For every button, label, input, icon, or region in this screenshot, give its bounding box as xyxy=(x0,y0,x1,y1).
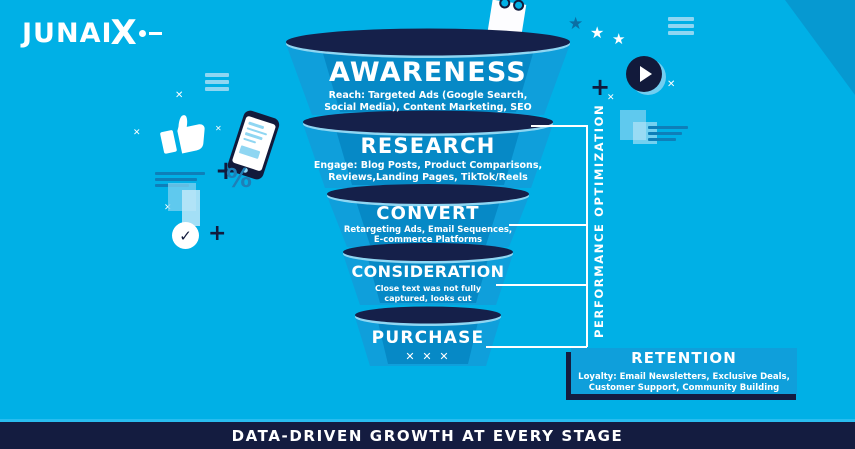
stage-consideration-sub: Close text was not fully captured, looks… xyxy=(343,284,513,304)
stage-purchase-marks: ✕ ✕ ✕ xyxy=(355,350,501,363)
stage-convert-sub: Retargeting Ads, Email Sequences, E-comm… xyxy=(327,225,529,246)
stage-purchase[interactable]: PURCHASE ✕ ✕ ✕ xyxy=(355,317,501,366)
stage-awareness[interactable]: AWARENESS Reach: Targeted Ads (Google Se… xyxy=(286,44,570,115)
bracket-tick-consideration xyxy=(496,284,587,286)
stage-purchase-label: PURCHASE xyxy=(355,328,501,348)
stage-convert[interactable]: CONVERT Retargeting Ads, Email Sequences… xyxy=(327,196,529,247)
stage-consideration[interactable]: CONSIDERATION Close text was not fully c… xyxy=(343,254,513,305)
infographic-canvas: JUNAI X ✕ ✕ ✕ ✕ + % ✓ xyxy=(0,0,855,449)
stage-consideration-label: CONSIDERATION xyxy=(343,262,513,281)
stage-research[interactable]: RESEARCH Engage: Blog Posts, Product Com… xyxy=(303,124,553,188)
performance-optimization-label: PERFORMANCE OPTIMIZATION xyxy=(592,143,606,338)
footer-banner: DATA-DRIVEN GROWTH AT EVERY STAGE xyxy=(0,422,855,449)
bracket-vertical xyxy=(586,125,588,347)
stage-awareness-label: AWARENESS xyxy=(286,57,570,88)
bracket-tick-research xyxy=(531,125,587,127)
stage-convert-label: CONVERT xyxy=(327,203,529,224)
stage-awareness-sub: Reach: Targeted Ads (Google Search, Soci… xyxy=(286,90,570,113)
stage-research-sub: Engage: Blog Posts, Product Comparisons,… xyxy=(303,160,553,183)
stage-research-label: RESEARCH xyxy=(303,134,553,158)
footer-text: DATA-DRIVEN GROWTH AT EVERY STAGE xyxy=(232,427,624,445)
retention-sub: Loyalty: Email Newsletters, Exclusive De… xyxy=(578,372,790,394)
bracket-tick-convert xyxy=(509,224,587,226)
retention-card[interactable]: RETENTION Loyalty: Email Newsletters, Ex… xyxy=(571,348,797,394)
retention-title: RETENTION xyxy=(631,349,737,367)
